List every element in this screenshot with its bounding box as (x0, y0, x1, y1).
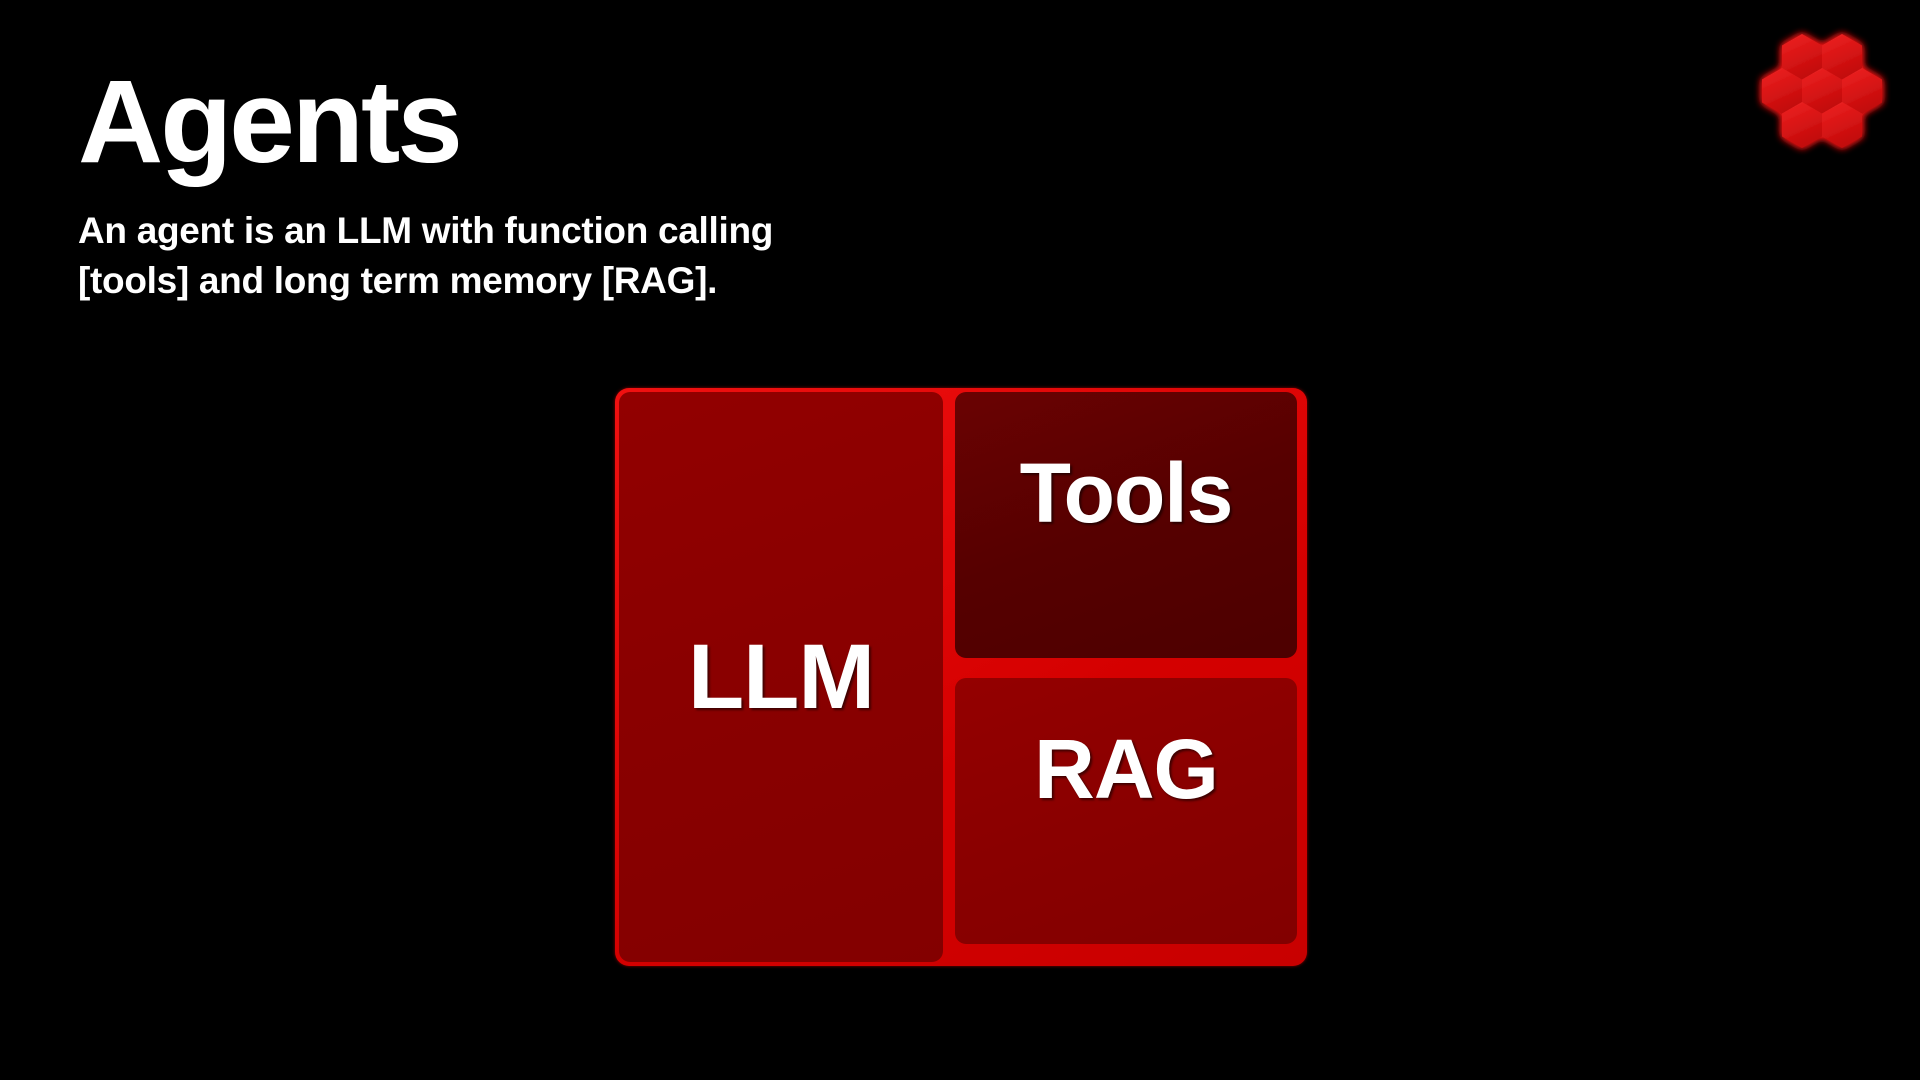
hexagon-cluster-logo (1752, 22, 1892, 157)
subtitle-line-2: [tools] and long term memory [RAG]. (78, 256, 1018, 305)
diagram-right-column: Tools RAG (955, 392, 1297, 962)
diagram-panel-tools-label: Tools (1020, 451, 1233, 535)
page-title: Agents (78, 62, 1178, 182)
hexagon-cluster-icon (1752, 22, 1892, 157)
page-subtitle: An agent is an LLM with function calling… (78, 206, 1018, 304)
diagram-panel-rag-label: RAG (1034, 727, 1218, 811)
heading-block: Agents An agent is an LLM with function … (78, 62, 1178, 305)
agent-architecture-diagram: LLM Tools RAG (615, 388, 1307, 966)
subtitle-line-1: An agent is an LLM with function calling (78, 206, 1018, 255)
diagram-panel-llm-label: LLM (688, 631, 874, 723)
diagram-panel-rag[interactable]: RAG (955, 678, 1297, 944)
diagram-panel-tools[interactable]: Tools (955, 392, 1297, 658)
diagram-panel-llm[interactable]: LLM (619, 392, 943, 962)
slide-canvas: Agents An agent is an LLM with function … (0, 0, 1920, 1080)
